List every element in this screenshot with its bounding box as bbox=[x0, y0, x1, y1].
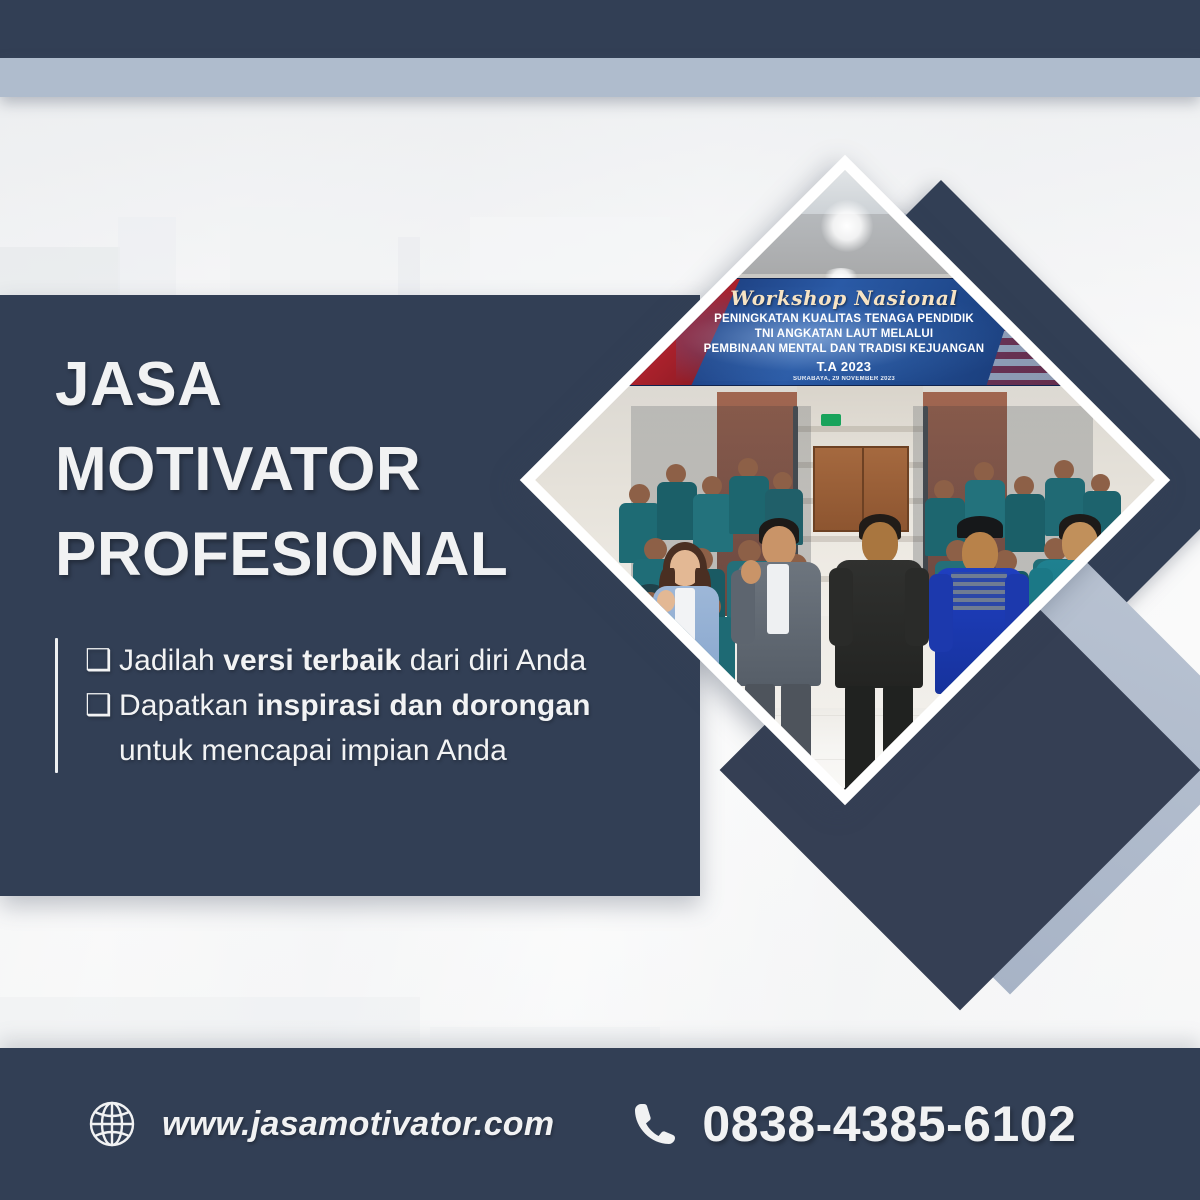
list-item-text: Dapatkan inspirasi dan dorongan untuk me… bbox=[119, 683, 655, 773]
list-item-text: Jadilah versi terbaik dari diri Anda bbox=[119, 638, 655, 683]
banner-line-2: TNI ANGKATAN LAUT MELALUI bbox=[610, 328, 1078, 340]
banner-line-4: T.A 2023 bbox=[610, 359, 1078, 374]
list-item: ❑ Jadilah versi terbaik dari diri Anda bbox=[85, 638, 655, 683]
bullet-1-post: dari diri Anda bbox=[401, 644, 586, 677]
phone-contact[interactable]: 0838-4385-6102 bbox=[630, 1095, 1076, 1153]
top-light-band bbox=[0, 58, 1200, 97]
bullet-2-bold: inspirasi dan dorongan bbox=[257, 689, 591, 722]
bullet-1-bold: versi terbaik bbox=[223, 644, 401, 677]
exit-sign-icon bbox=[821, 414, 841, 426]
bullet-2-pre: Dapatkan bbox=[119, 689, 257, 722]
photo-step bbox=[797, 426, 923, 432]
bullet-2-post: untuk mencapai impian Anda bbox=[119, 734, 507, 767]
bullet-1-pre: Jadilah bbox=[119, 644, 223, 677]
photo-ceiling-lamp bbox=[821, 200, 873, 252]
contact-footer: www.jasamotivator.com 0838-4385-6102 bbox=[0, 1048, 1200, 1200]
globe-icon bbox=[86, 1098, 138, 1150]
banner-line-5: SURABAYA, 29 NOVEMBER 2023 bbox=[610, 376, 1078, 382]
website-contact[interactable]: www.jasamotivator.com bbox=[86, 1098, 554, 1150]
banner-line-3: PEMBINAAN MENTAL DAN TRADISI KEJUANGAN bbox=[610, 343, 1078, 355]
list-item: ❑ Dapatkan inspirasi dan dorongan untuk … bbox=[85, 683, 655, 773]
top-dark-band bbox=[0, 0, 1200, 58]
benefit-list: ❑ Jadilah versi terbaik dari diri Anda ❑… bbox=[55, 638, 655, 773]
accent-rule bbox=[55, 638, 58, 773]
phone-number: 0838-4385-6102 bbox=[702, 1095, 1076, 1153]
headline-panel: JASA MOTIVATOR PROFESIONAL ❑ Jadilah ver… bbox=[0, 295, 700, 896]
website-url: www.jasamotivator.com bbox=[162, 1105, 554, 1144]
checkbox-bullet-icon: ❑ bbox=[85, 683, 119, 728]
phone-icon bbox=[630, 1099, 680, 1149]
poster-canvas: JASA MOTIVATOR PROFESIONAL ❑ Jadilah ver… bbox=[0, 0, 1200, 1200]
headline-line-1: JASA bbox=[55, 342, 655, 427]
checkbox-bullet-icon: ❑ bbox=[85, 638, 119, 683]
